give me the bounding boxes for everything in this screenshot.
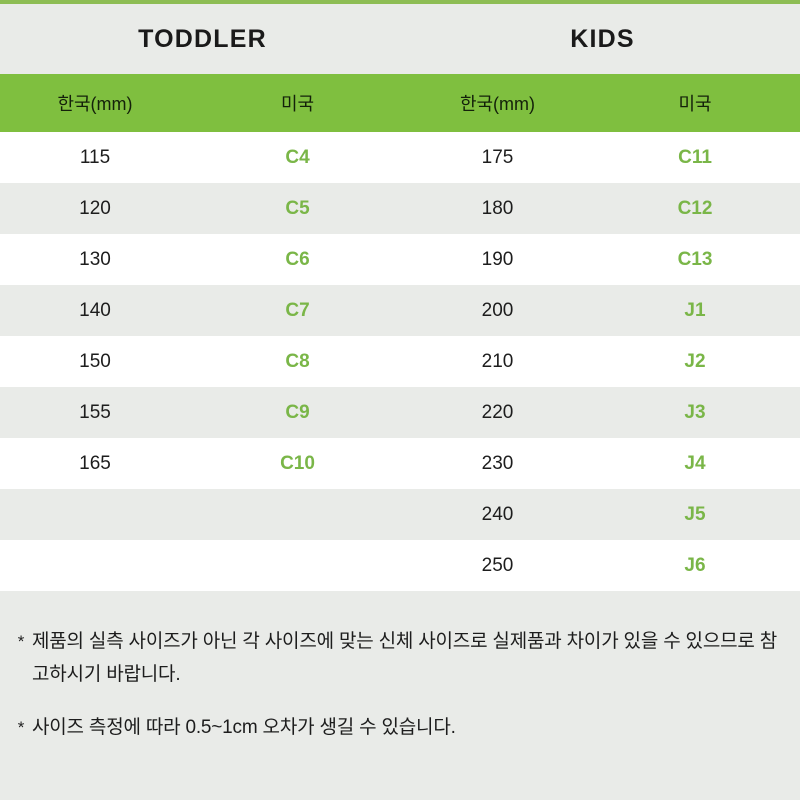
cell-kids-kr: 180 [405, 183, 590, 234]
cell-kids-kr: 250 [405, 540, 590, 591]
table-row: 240J5 [0, 489, 800, 540]
cell-kids-kr: 220 [405, 387, 590, 438]
cell-kids-kr: 230 [405, 438, 590, 489]
table-row: 140C7200J1 [0, 285, 800, 336]
cell-kids-kr: 240 [405, 489, 590, 540]
table-row: 115C4175C11 [0, 132, 800, 183]
cell-kids-kr: 190 [405, 234, 590, 285]
size-table-body: 115C4175C11120C5180C12130C6190C13140C720… [0, 132, 800, 591]
cell-toddler-kr: 155 [0, 387, 190, 438]
cell-toddler-kr: 140 [0, 285, 190, 336]
cell-kids-us: J6 [590, 540, 800, 591]
asterisk-icon: * [10, 711, 32, 744]
cell-toddler-kr: 130 [0, 234, 190, 285]
table-row: 120C5180C12 [0, 183, 800, 234]
footnote-text: 제품의 실측 사이즈가 아닌 각 사이즈에 맞는 신체 사이즈로 실제품과 차이… [32, 625, 778, 691]
cell-toddler-us: C7 [190, 285, 405, 336]
cell-toddler-us: C5 [190, 183, 405, 234]
group-title-toddler: TODDLER [0, 4, 405, 74]
column-header-toddler-us: 미국 [190, 74, 405, 132]
cell-kids-us: J1 [590, 285, 800, 336]
cell-kids-us: J3 [590, 387, 800, 438]
cell-kids-us: C11 [590, 132, 800, 183]
group-title-kids: KIDS [405, 4, 800, 74]
cell-kids-us: J5 [590, 489, 800, 540]
cell-toddler-us [190, 489, 405, 540]
footnote: *사이즈 측정에 따라 0.5~1cm 오차가 생길 수 있습니다. [0, 711, 800, 744]
cell-kids-us: J2 [590, 336, 800, 387]
cell-kids-us: J4 [590, 438, 800, 489]
cell-kids-us: C13 [590, 234, 800, 285]
asterisk-icon: * [10, 625, 32, 658]
cell-kids-kr: 210 [405, 336, 590, 387]
table-row: 165C10230J4 [0, 438, 800, 489]
cell-toddler-us: C10 [190, 438, 405, 489]
column-header-kids-kr: 한국(mm) [405, 74, 590, 132]
table-row: 250J6 [0, 540, 800, 591]
table-row: 155C9220J3 [0, 387, 800, 438]
footnote-text: 사이즈 측정에 따라 0.5~1cm 오차가 생길 수 있습니다. [32, 711, 456, 744]
table-row: 150C8210J2 [0, 336, 800, 387]
size-chart: TODDLER KIDS 한국(mm) 미국 한국(mm) 미국 115C417… [0, 0, 800, 800]
group-title-row: TODDLER KIDS [0, 4, 800, 74]
column-header-kids-us: 미국 [590, 74, 800, 132]
cell-toddler-kr: 115 [0, 132, 190, 183]
cell-toddler-kr: 165 [0, 438, 190, 489]
cell-toddler-us: C4 [190, 132, 405, 183]
footnote: *제품의 실측 사이즈가 아닌 각 사이즈에 맞는 신체 사이즈로 실제품과 차… [0, 625, 800, 691]
table-row: 130C6190C13 [0, 234, 800, 285]
cell-toddler-us: C9 [190, 387, 405, 438]
cell-kids-us: C12 [590, 183, 800, 234]
column-header-toddler-kr: 한국(mm) [0, 74, 190, 132]
cell-toddler-us: C8 [190, 336, 405, 387]
cell-toddler-kr: 120 [0, 183, 190, 234]
cell-toddler-us [190, 540, 405, 591]
cell-kids-kr: 200 [405, 285, 590, 336]
column-header-row: 한국(mm) 미국 한국(mm) 미국 [0, 74, 800, 132]
cell-kids-kr: 175 [405, 132, 590, 183]
cell-toddler-us: C6 [190, 234, 405, 285]
cell-toddler-kr: 150 [0, 336, 190, 387]
footnotes: *제품의 실측 사이즈가 아닌 각 사이즈에 맞는 신체 사이즈로 실제품과 차… [0, 591, 800, 744]
cell-toddler-kr [0, 540, 190, 591]
cell-toddler-kr [0, 489, 190, 540]
